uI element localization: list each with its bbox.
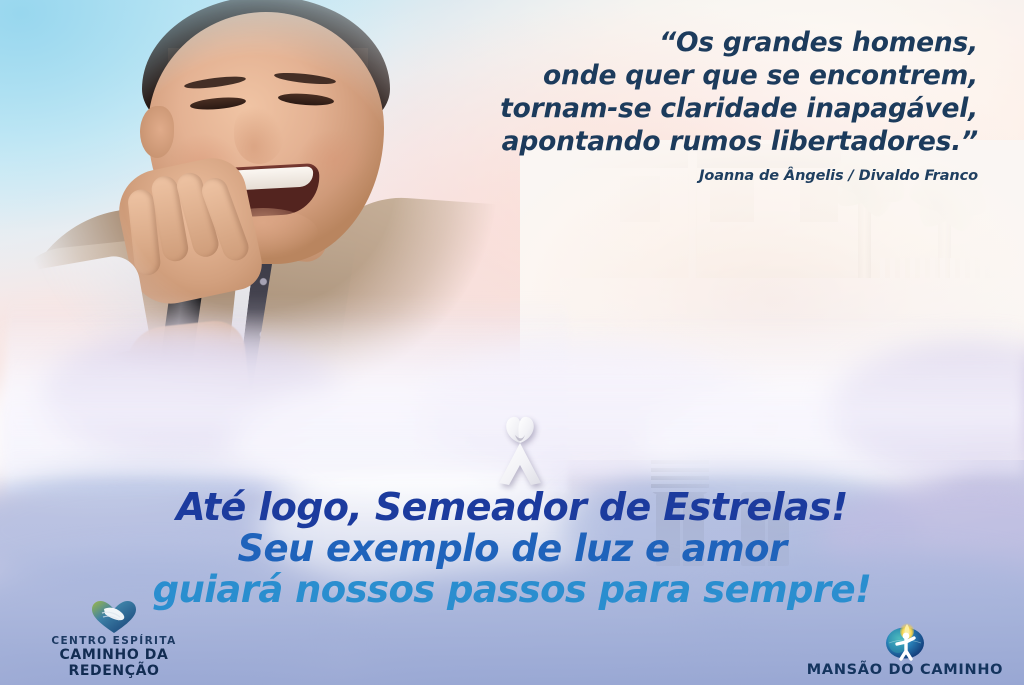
logo-left-line-2: CAMINHO DA REDENÇÃO [14, 647, 214, 679]
logo-left-line-1: CENTRO ESPÍRITA [14, 635, 214, 647]
white-ribbon-icon [489, 413, 551, 487]
memorial-poster: “Os grandes homens, onde quer que se enc… [0, 0, 1024, 685]
quote-line-3: tornam-se claridade inapagável, [438, 92, 978, 125]
portrait-ear [140, 106, 174, 158]
globe-figure-torch-icon [883, 621, 927, 661]
quote-line-1: “Os grandes homens, [438, 26, 978, 59]
quote-line-4: apontando rumos libertadores.” [438, 125, 978, 158]
headline-message: Até logo, Semeador de Estrelas! Seu exem… [0, 486, 1024, 610]
quote-line-2: onde quer que se encontrem, [438, 59, 978, 92]
logo-mansao-do-caminho: MANSÃO DO CAMINHO [800, 621, 1010, 679]
portrait-nose [234, 106, 284, 164]
headline-line-1: Até logo, Semeador de Estrelas! [0, 486, 1024, 528]
quote-attribution: Joanna de Ângelis / Divaldo Franco [438, 168, 978, 184]
headline-line-2: Seu exemplo de luz e amor [0, 528, 1024, 569]
logo-centro-espirita: CENTRO ESPÍRITA CAMINHO DA REDENÇÃO [14, 600, 214, 679]
heart-hands-icon [91, 600, 137, 634]
logo-right-line-1: MANSÃO DO CAMINHO [800, 662, 1010, 679]
quote-text: “Os grandes homens, onde quer que se enc… [438, 26, 978, 158]
